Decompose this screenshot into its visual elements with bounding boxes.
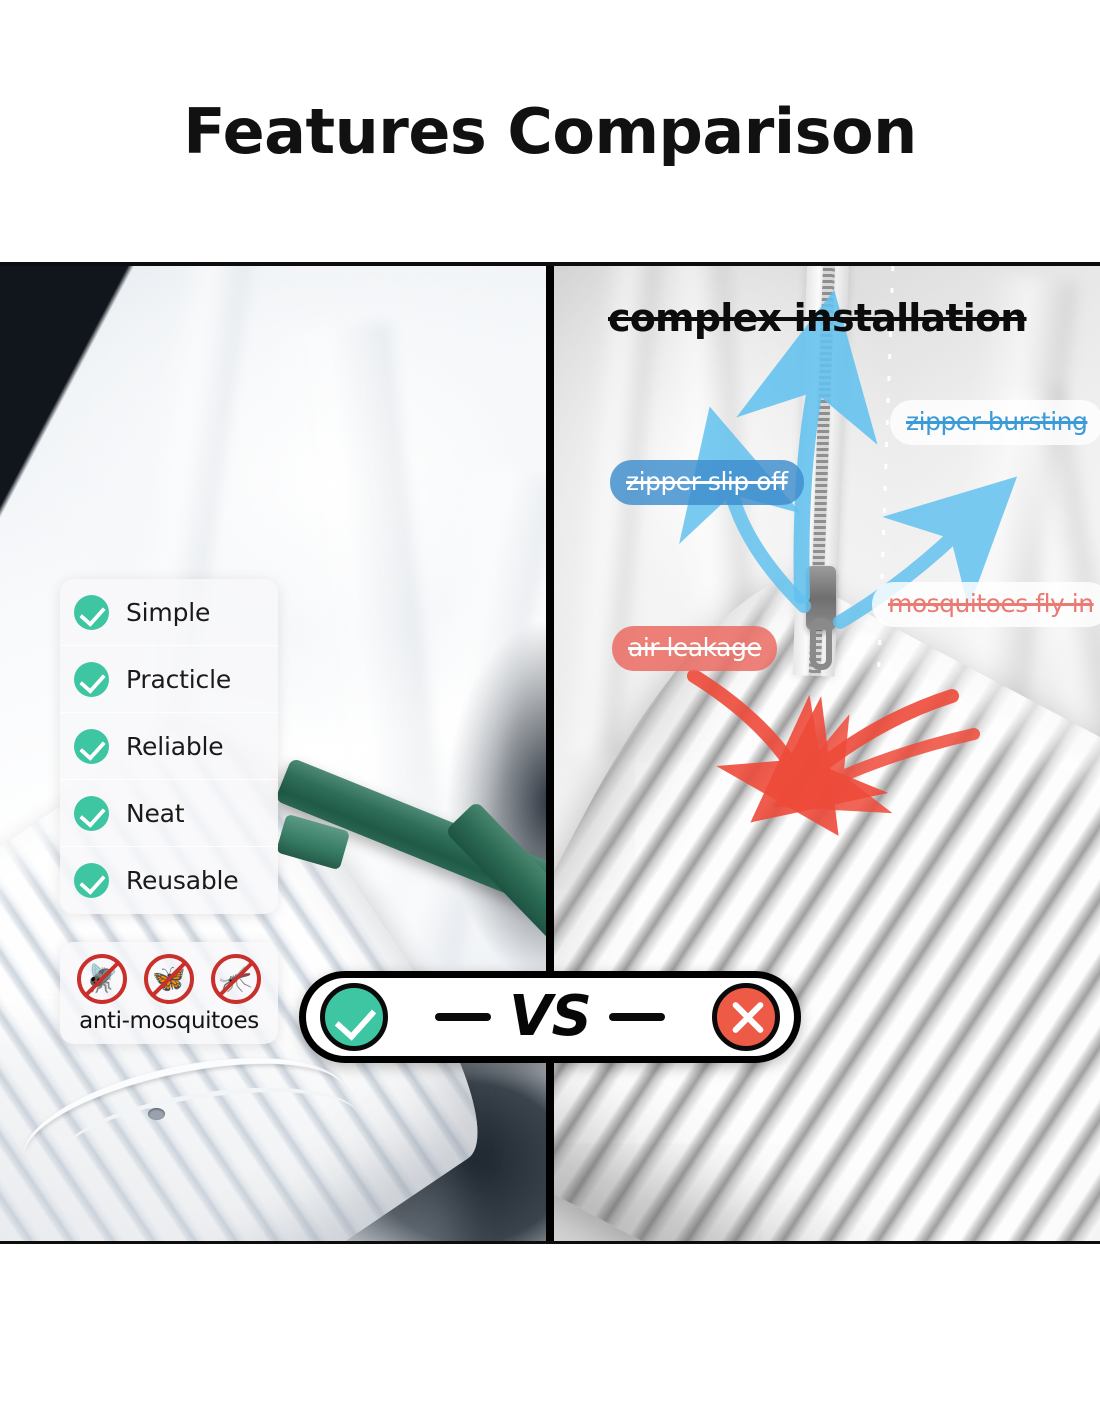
zipper-pull-icon (810, 618, 832, 670)
annotation-zipper-bursting: zipper bursting (890, 400, 1100, 445)
check-circle-icon (74, 662, 109, 697)
feature-label: Simple (126, 598, 210, 627)
check-circle-icon (74, 729, 109, 764)
anti-mosquitoes-card: 🪰 🦋 🦟 anti-mosquitoes (60, 942, 278, 1044)
vs-dash-left (435, 1013, 491, 1021)
annotation-zipper-slip-off: zipper slip off (610, 460, 804, 505)
annotation-mosquitoes-fly-in: mosquitoes fly in (872, 582, 1100, 627)
title-bar: Features Comparison (0, 0, 1100, 262)
feature-row: Reusable (60, 847, 278, 914)
left-panel-upgraded: Simple Practicle Reliable Neat Reusable (0, 266, 546, 1241)
feature-label: Practicle (126, 665, 231, 694)
vs-badge: VS (299, 971, 801, 1063)
feature-row: Simple (60, 579, 278, 646)
feature-label: Reusable (126, 866, 238, 895)
check-icon (320, 983, 388, 1051)
check-circle-icon (74, 863, 109, 898)
vs-middle: VS (388, 989, 712, 1045)
no-butterfly-icon: 🦋 (144, 954, 194, 1004)
cross-icon (712, 983, 780, 1051)
feature-label: Neat (126, 799, 184, 828)
vs-label: VS (509, 989, 591, 1045)
vs-dash-right (609, 1013, 665, 1021)
page-title: Features Comparison (183, 95, 917, 168)
comparison-area: Simple Practicle Reliable Neat Reusable (0, 262, 1100, 1244)
check-circle-icon (74, 796, 109, 831)
no-fly-icon: 🪰 (77, 954, 127, 1004)
feature-row: Neat (60, 780, 278, 847)
no-mosquito-icon: 🦟 (211, 954, 261, 1004)
feature-label: Reliable (126, 732, 223, 761)
panel-divider (546, 266, 554, 1241)
complex-installation-headline: complex installation (608, 296, 1027, 340)
features-checklist-card: Simple Practicle Reliable Neat Reusable (60, 579, 278, 914)
comparison-infographic: Features Comparison S (0, 0, 1100, 1422)
cord-grommet (148, 1108, 165, 1120)
feature-row: Reliable (60, 713, 278, 780)
anti-mosquitoes-label: anti-mosquitoes (60, 1008, 278, 1034)
annotation-air-leakage: air leakage (612, 626, 777, 671)
right-panel-old-type: complex installation zipper bursting zip… (554, 266, 1100, 1241)
feature-row: Practicle (60, 646, 278, 713)
anti-mosquitoes-icon-row: 🪰 🦋 🦟 (60, 954, 278, 1004)
check-circle-icon (74, 595, 109, 630)
